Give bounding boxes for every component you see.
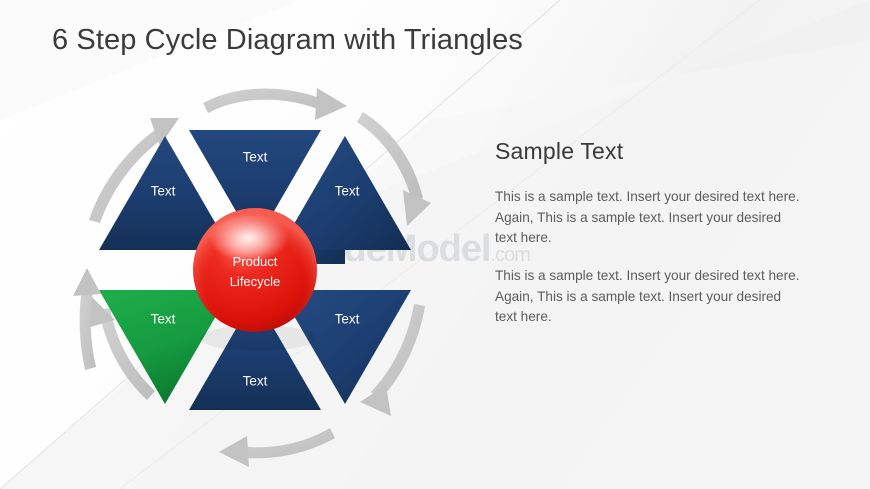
- step-6-label: Text: [151, 184, 176, 199]
- step-4-label: Text: [243, 374, 268, 389]
- arrow-bottom: [219, 428, 335, 467]
- arrow-top: [203, 88, 347, 120]
- center-label-line2: Lifecycle: [230, 274, 281, 289]
- page-title: 6 Step Cycle Diagram with Triangles: [52, 24, 523, 57]
- slide-canvas: 6 Step Cycle Diagram with Triangles Slid…: [0, 0, 870, 489]
- step-1-label: Text: [243, 150, 268, 165]
- cycle-diagram: Text Text Text Text Text: [55, 70, 455, 470]
- step-3-label: Text: [335, 312, 360, 327]
- center-label-line1: Product: [233, 254, 278, 269]
- step-2-label: Text: [335, 184, 360, 199]
- step-5-label: Text: [151, 312, 176, 327]
- body-paragraph-2: This is a sample text. Insert your desir…: [495, 266, 805, 328]
- text-panel: Sample Text This is a sample text. Inser…: [495, 138, 805, 328]
- center-sphere[interactable]: Product Lifecycle: [193, 208, 317, 351]
- body-paragraph-1: This is a sample text. Insert your desir…: [495, 187, 805, 249]
- sample-text-heading: Sample Text: [495, 138, 805, 165]
